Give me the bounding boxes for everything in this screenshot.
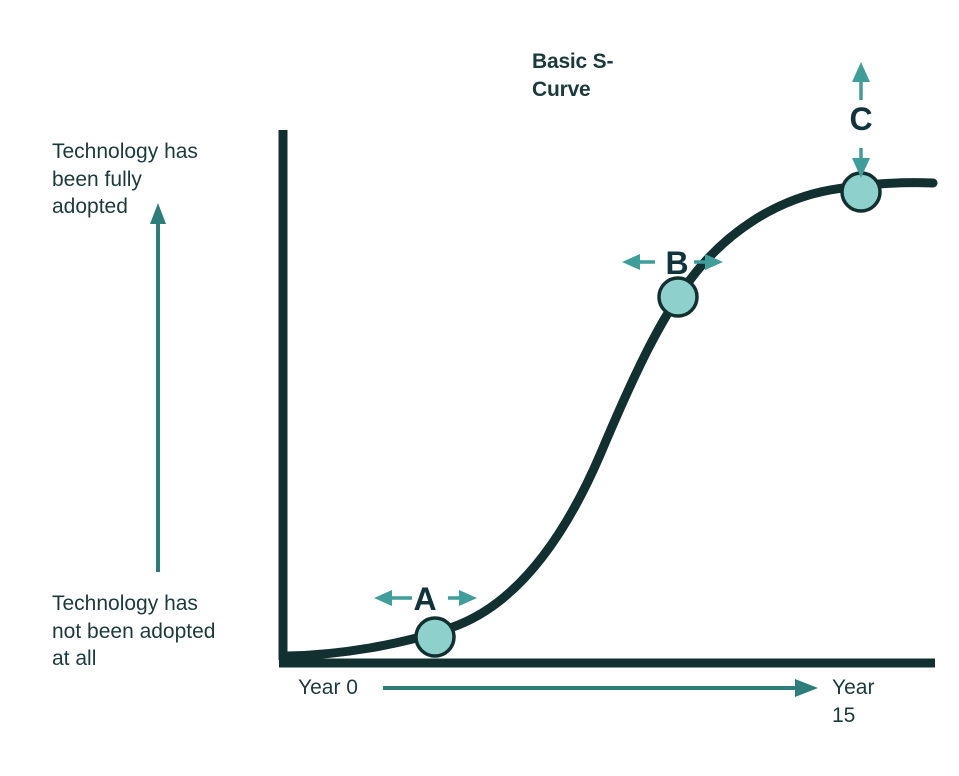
s-curve-diagram: Basic S- Curve Technology has been fully… (0, 0, 959, 776)
annotation-label-a: A (405, 583, 445, 615)
x-axis-start-label: Year 0 (298, 674, 418, 702)
s-curve-path (287, 183, 933, 656)
data-point-a[interactable] (416, 618, 454, 656)
page-title: Basic S- Curve (532, 48, 692, 103)
y-axis-top-label: Technology has been fully adopted (52, 138, 252, 221)
data-point-b[interactable] (659, 278, 697, 316)
annotation-label-c: C (841, 103, 881, 135)
y-axis-bottom-label: Technology has not been adopted at all (52, 590, 262, 673)
x-axis-end-label: Year 15 (832, 674, 912, 729)
axis-group (279, 130, 935, 663)
annotation-label-b: B (657, 247, 697, 279)
data-point-c[interactable] (842, 173, 880, 211)
vertical-axis-arrow (150, 203, 166, 572)
horizontal-axis-arrow (383, 679, 818, 697)
